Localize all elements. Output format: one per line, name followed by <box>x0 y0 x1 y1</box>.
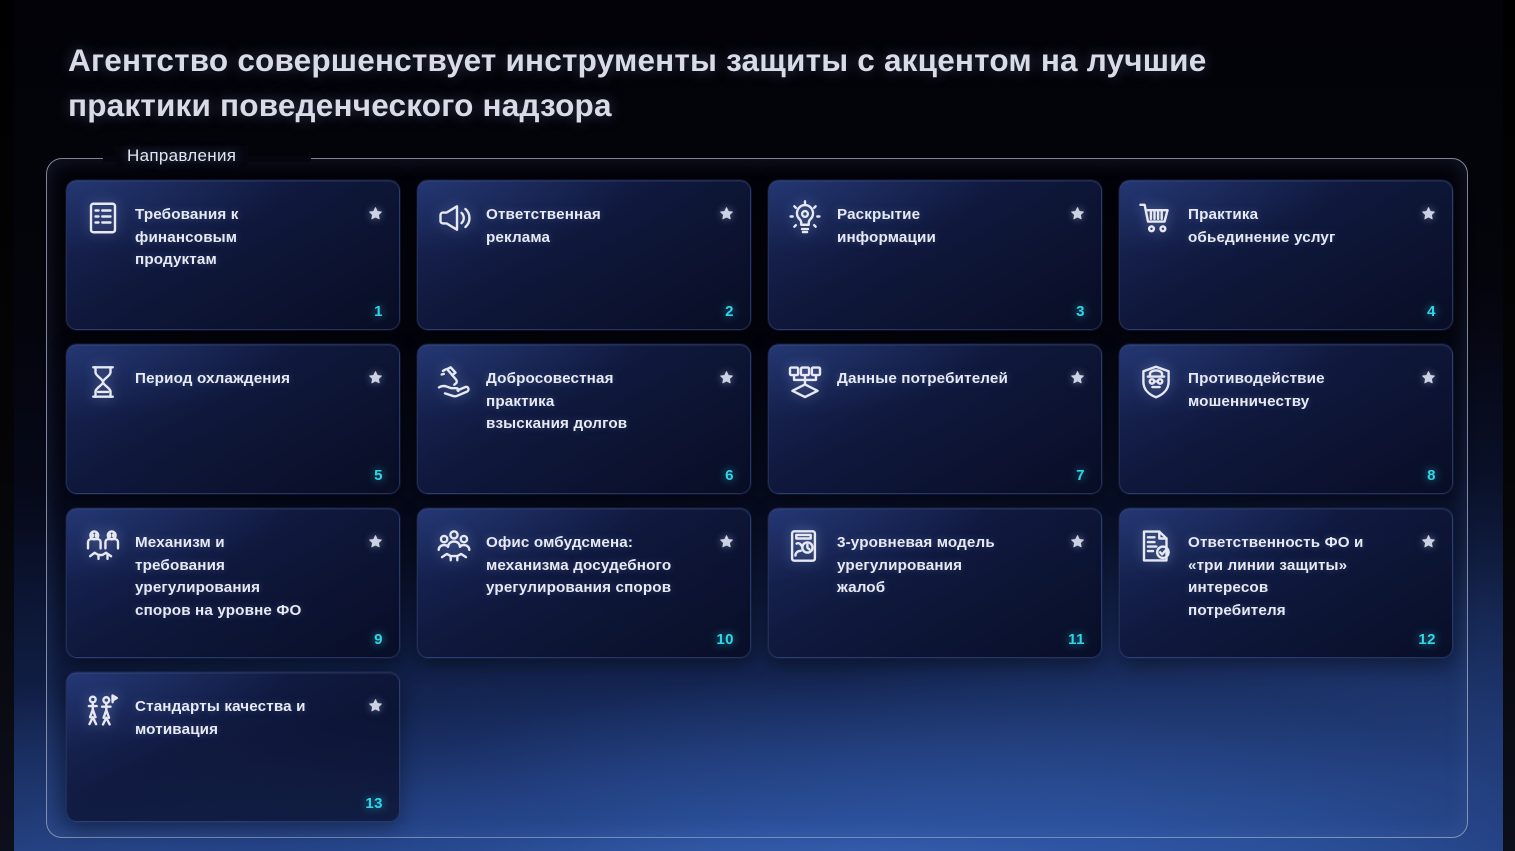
card-title: Практика обьединение услуг <box>1188 203 1407 249</box>
card-number: 10 <box>716 631 734 648</box>
ombudsman-group-icon <box>436 528 472 564</box>
card-title: Раскрытие информации <box>837 203 1056 249</box>
shield-fraud-icon <box>1138 364 1174 400</box>
direction-card[interactable]: Практика обьединение услуг4 <box>1119 180 1453 330</box>
card-header: Офис омбудсмена: механизма досудебного у… <box>436 531 734 600</box>
card-title: Офис омбудсмена: механизма досудебного у… <box>486 531 705 600</box>
card-header: Период охлаждения <box>85 367 383 400</box>
debt-collection-hand-icon <box>436 364 472 400</box>
star-icon[interactable] <box>1070 370 1085 385</box>
card-header: Требования к финансовым продуктам <box>85 203 383 272</box>
star-icon[interactable] <box>368 206 383 221</box>
card-header: Практика обьединение услуг <box>1138 203 1436 249</box>
star-icon[interactable] <box>368 698 383 713</box>
card-header: 3-уровневая модель урегулирования жалоб <box>787 531 1085 600</box>
star-icon[interactable] <box>719 206 734 221</box>
presentation-slide: Агентство совершенствует инструменты защ… <box>0 0 1515 851</box>
star-icon[interactable] <box>1421 370 1436 385</box>
card-header: Механизм и требования урегулирования спо… <box>85 531 383 622</box>
card-title: Требования к финансовым продуктам <box>135 203 354 272</box>
direction-card[interactable]: Период охлаждения5 <box>66 344 400 494</box>
card-number: 5 <box>374 467 383 484</box>
cards-grid: Требования к финансовым продуктам1Ответс… <box>66 180 1456 822</box>
direction-card[interactable]: 3-уровневая модель урегулирования жалоб1… <box>768 508 1102 658</box>
data-network-icon <box>787 364 823 400</box>
card-number: 3 <box>1076 303 1085 320</box>
card-title: Период охлаждения <box>135 367 354 391</box>
card-header: Ответственная реклама <box>436 203 734 249</box>
card-number: 4 <box>1427 303 1436 320</box>
shopping-cart-icon <box>1138 200 1174 236</box>
direction-card[interactable]: Данные потребителей7 <box>768 344 1102 494</box>
direction-card[interactable]: Ответственность ФО и «три линии защиты» … <box>1119 508 1453 658</box>
card-number: 1 <box>374 303 383 320</box>
direction-card[interactable]: Добросовестная практика взыскания долгов… <box>417 344 751 494</box>
card-number: 9 <box>374 631 383 648</box>
card-header: Стандарты качества и мотивация <box>85 695 383 741</box>
handshake-people-icon <box>85 528 121 564</box>
star-icon[interactable] <box>719 534 734 549</box>
star-icon[interactable] <box>368 534 383 549</box>
star-icon[interactable] <box>1421 206 1436 221</box>
letterbox-right <box>1503 0 1515 851</box>
card-header: Данные потребителей <box>787 367 1085 400</box>
card-number: 12 <box>1418 631 1436 648</box>
card-header: Противодействие мошенничеству <box>1138 367 1436 413</box>
star-icon[interactable] <box>1421 534 1436 549</box>
card-number: 13 <box>365 795 383 812</box>
direction-card[interactable]: Ответственная реклама2 <box>417 180 751 330</box>
quality-motivation-icon <box>85 692 121 728</box>
direction-card[interactable]: Стандарты качества и мотивация13 <box>66 672 400 822</box>
star-icon[interactable] <box>719 370 734 385</box>
card-title: Добросовестная практика взыскания долгов <box>486 367 705 436</box>
card-title: Ответственность ФО и «три линии защиты» … <box>1188 531 1407 622</box>
card-title: 3-уровневая модель урегулирования жалоб <box>837 531 1056 600</box>
card-number: 2 <box>725 303 734 320</box>
card-title: Противодействие мошенничеству <box>1188 367 1407 413</box>
star-icon[interactable] <box>1070 206 1085 221</box>
card-number: 8 <box>1427 467 1436 484</box>
direction-card[interactable]: Требования к финансовым продуктам1 <box>66 180 400 330</box>
star-icon[interactable] <box>368 370 383 385</box>
card-number: 7 <box>1076 467 1085 484</box>
card-title: Механизм и требования урегулирования спо… <box>135 531 354 622</box>
direction-card[interactable]: Противодействие мошенничеству8 <box>1119 344 1453 494</box>
card-header: Добросовестная практика взыскания долгов <box>436 367 734 436</box>
card-number: 11 <box>1068 631 1085 648</box>
direction-card[interactable]: Офис омбудсмена: механизма досудебного у… <box>417 508 751 658</box>
direction-card[interactable]: Раскрытие информации3 <box>768 180 1102 330</box>
checklist-document-icon <box>85 200 121 236</box>
direction-card[interactable]: Механизм и требования урегулирования спо… <box>66 508 400 658</box>
card-title: Данные потребителей <box>837 367 1056 391</box>
hourglass-icon <box>85 364 121 400</box>
letterbox-left <box>0 0 14 851</box>
card-title: Ответственная реклама <box>486 203 705 249</box>
card-header: Ответственность ФО и «три линии защиты» … <box>1138 531 1436 622</box>
document-check-icon <box>1138 528 1174 564</box>
card-number: 6 <box>725 467 734 484</box>
star-icon[interactable] <box>1070 534 1085 549</box>
card-header: Раскрытие информации <box>787 203 1085 249</box>
page-title: Агентство совершенствует инструменты защ… <box>68 38 1428 128</box>
megaphone-icon <box>436 200 472 236</box>
panel-legend-label: Направления <box>115 146 248 166</box>
lightbulb-eye-icon <box>787 200 823 236</box>
complaint-report-icon <box>787 528 823 564</box>
card-title: Стандарты качества и мотивация <box>135 695 354 741</box>
